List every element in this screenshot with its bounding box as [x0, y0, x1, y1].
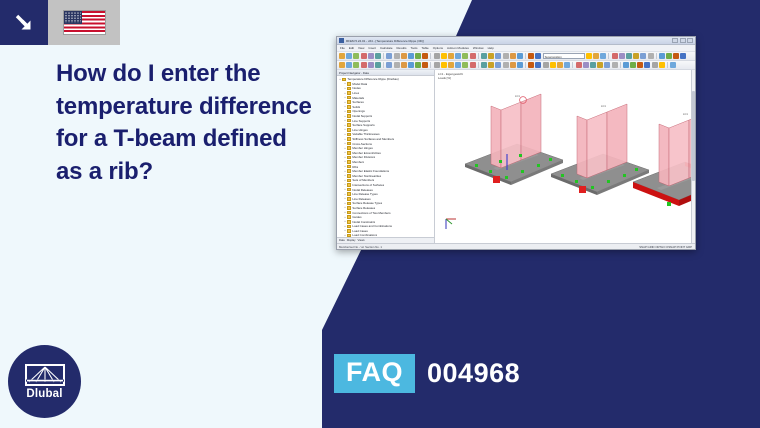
- toolbar-icon[interactable]: [495, 53, 501, 59]
- app-menubar[interactable]: FileEditViewInsertCalculateResultsToolsT…: [337, 45, 695, 52]
- toolbar-icon[interactable]: [422, 53, 428, 59]
- toolbar-icon[interactable]: [535, 62, 541, 68]
- toolbar-icon[interactable]: [346, 53, 352, 59]
- toolbar-icon[interactable]: [488, 62, 494, 68]
- statusbar-left: Member/set No. / at: Section No. 1: [339, 244, 382, 249]
- toolbar-icon[interactable]: [339, 62, 345, 68]
- toolbar-icon[interactable]: [612, 62, 618, 68]
- toolbar-icon[interactable]: [386, 53, 392, 59]
- app-workarea: Project Navigator - Data +Temperature Di…: [337, 70, 695, 243]
- toolbar-separator: [572, 62, 573, 68]
- toolbar-icon[interactable]: [434, 62, 440, 68]
- folder-icon: [347, 160, 351, 164]
- toolbar-separator: [656, 53, 657, 59]
- rib-model-3: LC1: [627, 110, 695, 214]
- navigator-tabs[interactable]: DataDisplayViews: [337, 237, 434, 243]
- menu-item-table[interactable]: Table: [422, 46, 429, 50]
- toolbar-icon[interactable]: [648, 53, 654, 59]
- toolbar-icon[interactable]: [593, 53, 599, 59]
- folder-icon: [347, 128, 351, 132]
- page-title: How do I enter the temperature differenc…: [56, 58, 318, 189]
- faq-badge: FAQ 004968: [334, 354, 520, 393]
- navigator-tab-views[interactable]: Views: [358, 239, 365, 242]
- folder-icon: [347, 174, 351, 178]
- toolbar-icon[interactable]: [495, 62, 501, 68]
- tree-item-label: Sets of Members: [352, 178, 374, 182]
- tree-item-label: Line Releases: [352, 197, 370, 201]
- tree-item-label: Load Cases: [352, 229, 367, 233]
- toolbar-icon[interactable]: [680, 53, 686, 59]
- tree-item-label: Surface Supports: [352, 123, 374, 127]
- toolbar-icon[interactable]: [346, 62, 352, 68]
- toolbar-icon[interactable]: [422, 62, 428, 68]
- folder-icon: [347, 110, 351, 114]
- faq-number: 004968: [427, 360, 520, 387]
- dlubal-logo[interactable]: Dlubal: [8, 345, 81, 418]
- toolbar-loadcase-combo[interactable]: Superposition: [543, 53, 585, 59]
- toolbar-icon[interactable]: [401, 53, 407, 59]
- app-screenshot-window: RFEM 5.24.01 - x64 - [Temperature Differ…: [336, 36, 696, 250]
- toolbar-icon[interactable]: [401, 62, 407, 68]
- toolbar-icon[interactable]: [619, 53, 625, 59]
- toolbar-icon[interactable]: [604, 62, 610, 68]
- model-viewport[interactable]: LC1 - Eigengewicht Loads [%]: [435, 70, 695, 243]
- toolbar-separator: [525, 53, 526, 59]
- toolbar-icon[interactable]: [670, 62, 676, 68]
- toolbar-icon[interactable]: [612, 53, 618, 59]
- toolbar-icon[interactable]: [623, 62, 629, 68]
- faq-chip-label: FAQ: [334, 354, 415, 393]
- app-title: RFEM 5.24.01 - x64 - [Temperature Differ…: [346, 39, 424, 43]
- toolbar-icon[interactable]: [441, 62, 447, 68]
- folder-icon: [347, 169, 351, 173]
- app-titlebar: RFEM 5.24.01 - x64 - [Temperature Differ…: [337, 37, 695, 45]
- folder-icon: [347, 202, 351, 206]
- toolbar-icon[interactable]: [528, 53, 534, 59]
- tree-item-label: Member Nonlinearities: [352, 174, 381, 178]
- app-toolbar-row-2[interactable]: [337, 61, 695, 70]
- tree-item-label: Nodes: [352, 86, 360, 90]
- language-flag-button[interactable]: [48, 0, 120, 45]
- tree-item-label: Line Supports: [352, 119, 370, 123]
- toolbar-icon[interactable]: [368, 62, 374, 68]
- toolbar-icon[interactable]: [583, 62, 589, 68]
- folder-icon: [342, 78, 346, 82]
- toolbar-icon[interactable]: [517, 53, 523, 59]
- structural-frame-icon: [25, 364, 65, 386]
- folder-icon: [347, 151, 351, 155]
- toolbar-icon[interactable]: [659, 53, 665, 59]
- tree-item-label: Surfaces: [352, 100, 363, 104]
- toolbar-icon[interactable]: [503, 62, 509, 68]
- folder-icon: [347, 87, 351, 91]
- toolbar-icon[interactable]: [448, 53, 454, 59]
- tree-item-label: Nodal Constraints: [352, 220, 375, 224]
- folder-icon: [347, 119, 351, 123]
- toolbar-icon[interactable]: [637, 62, 643, 68]
- menu-item-tools[interactable]: Tools: [411, 46, 418, 50]
- folder-icon: [347, 183, 351, 187]
- toolbar-separator: [608, 53, 609, 59]
- toolbar-icon[interactable]: [666, 53, 672, 59]
- navigator-tree[interactable]: +Temperature Difference Rippe (Dreibau)+…: [337, 76, 434, 237]
- toolbar-icon[interactable]: [455, 62, 461, 68]
- toolbar-icon[interactable]: [441, 53, 447, 59]
- toolbar-icon[interactable]: [481, 62, 487, 68]
- toolbar-icon[interactable]: [644, 62, 650, 68]
- toolbar-icon[interactable]: [488, 53, 494, 59]
- folder-icon: [347, 114, 351, 118]
- toolbar-icon[interactable]: [470, 62, 476, 68]
- menu-item-edit[interactable]: Edit: [349, 46, 354, 50]
- toolbar-icon[interactable]: [535, 53, 541, 59]
- tree-item-label: Surface Release Types: [352, 201, 382, 205]
- folder-icon: [347, 206, 351, 210]
- viewport-scrollbar[interactable]: [691, 70, 695, 243]
- toolbar-icon[interactable]: [434, 53, 440, 59]
- svg-text:LC1: LC1: [683, 112, 688, 116]
- navigator-tab-data[interactable]: Data: [339, 239, 345, 242]
- tree-item-label: Members: [352, 160, 364, 164]
- toolbar-separator: [667, 62, 668, 68]
- tree-item-label: Intersections of Surfaces: [352, 183, 384, 187]
- tree-item-label: Stiffness Surfaces and Members: [352, 137, 394, 141]
- folder-icon: [347, 220, 351, 224]
- folder-icon: [347, 229, 351, 233]
- toolbar-icon[interactable]: [557, 62, 563, 68]
- tree-item-label: Connections of Two Members: [352, 211, 390, 215]
- menu-item-insert[interactable]: Insert: [368, 46, 376, 50]
- arrow-down-right-icon[interactable]: [0, 0, 48, 45]
- tree-item-label: Materials: [352, 96, 364, 100]
- folder-icon: [347, 179, 351, 183]
- statusbar-right: SNAP GRID ORTHO OSNAP POINT GRP: [639, 244, 695, 249]
- toolbar-icon[interactable]: [652, 62, 658, 68]
- tree-item-label: Member Hinges: [352, 146, 372, 150]
- toolbar-icon[interactable]: [353, 53, 359, 59]
- folder-icon: [347, 100, 351, 104]
- folder-icon: [347, 211, 351, 215]
- toolbar-icon[interactable]: [510, 62, 516, 68]
- toolbar-icon[interactable]: [455, 53, 461, 59]
- folder-icon: [347, 197, 351, 201]
- toolbar-icon[interactable]: [528, 62, 534, 68]
- tree-item-label: Load Cases and Combinations: [352, 224, 392, 228]
- toolbar-icon[interactable]: [415, 62, 421, 68]
- toolbar-icon[interactable]: [394, 62, 400, 68]
- viewport-loadcase-label: LC1 - Eigengewicht Loads [%]: [438, 72, 463, 81]
- toolbar-icon[interactable]: [361, 53, 367, 59]
- toolbar-icon[interactable]: [415, 53, 421, 59]
- toolbar-separator: [430, 53, 431, 59]
- tree-item-label: Member Elastic Foundations: [352, 169, 389, 173]
- toolbar-icon[interactable]: [448, 62, 454, 68]
- tree-item-label: Variable Thicknesses: [352, 132, 379, 136]
- minimize-button[interactable]: [672, 38, 678, 43]
- toolbar-icon[interactable]: [590, 62, 596, 68]
- toolbar-icon[interactable]: [386, 62, 392, 68]
- window-controls[interactable]: [672, 38, 693, 43]
- toolbar-icon[interactable]: [550, 62, 556, 68]
- toolbar-icon[interactable]: [564, 62, 570, 68]
- toolbar-icon[interactable]: [597, 62, 603, 68]
- toolbar-icon[interactable]: [408, 62, 414, 68]
- menu-item-window[interactable]: Window: [473, 46, 484, 50]
- folder-icon: [347, 91, 351, 95]
- folder-icon: [347, 137, 351, 141]
- toolbar-icon[interactable]: [481, 53, 487, 59]
- folder-icon: [347, 123, 351, 127]
- toolbar-icon[interactable]: [470, 53, 476, 59]
- tree-item-label: Member Divisions: [352, 155, 375, 159]
- tree-item-label: Nodal Supports: [352, 114, 372, 118]
- navigator-tab-display[interactable]: Display: [347, 239, 356, 242]
- tree-item-label: Guides: [352, 215, 361, 219]
- tree-item-label: Nodal Releases: [352, 188, 372, 192]
- folder-icon: [347, 225, 351, 229]
- toolbar-icon[interactable]: [586, 53, 592, 59]
- toolbar-separator: [383, 53, 384, 59]
- close-button[interactable]: [687, 38, 693, 43]
- tree-item-label: Cross-Sections: [352, 142, 372, 146]
- toolbar-icon[interactable]: [633, 53, 639, 59]
- folder-icon: [347, 215, 351, 219]
- menu-item-file[interactable]: File: [340, 46, 345, 50]
- toolbar-separator: [525, 62, 526, 68]
- toolbar-separator: [430, 62, 431, 68]
- toolbar-separator: [383, 62, 384, 68]
- app-toolbar-row-1[interactable]: Superposition: [337, 52, 695, 61]
- tree-item-label: Openings: [352, 109, 364, 113]
- folder-icon: [347, 82, 351, 86]
- top-left-badges: [0, 0, 120, 45]
- toolbar-icon[interactable]: [543, 62, 549, 68]
- toolbar-icon[interactable]: [462, 53, 468, 59]
- toolbar-separator: [478, 62, 479, 68]
- toolbar-icon[interactable]: [673, 53, 679, 59]
- flag-canton: [64, 11, 82, 24]
- toolbar-icon[interactable]: [361, 62, 367, 68]
- tree-item-label: Surface Releases: [352, 206, 375, 210]
- logo-wordmark: Dlubal: [26, 388, 62, 400]
- toolbar-icon[interactable]: [462, 62, 468, 68]
- toolbar-icon[interactable]: [375, 53, 381, 59]
- folder-icon: [347, 142, 351, 146]
- tree-item-label: Line Hinges: [352, 128, 367, 132]
- scrollbar-thumb[interactable]: [692, 91, 695, 181]
- tree-item-label: Lines: [352, 91, 359, 95]
- toolbar-icon[interactable]: [368, 53, 374, 59]
- toolbar-icon[interactable]: [408, 53, 414, 59]
- app-icon: [339, 38, 344, 43]
- folder-icon: [347, 165, 351, 169]
- toolbar-separator: [478, 53, 479, 59]
- folder-icon: [347, 192, 351, 196]
- toolbar-icon[interactable]: [659, 62, 665, 68]
- svg-text:LC1: LC1: [601, 104, 606, 108]
- folder-icon: [347, 105, 351, 109]
- menu-item-add-on-modules[interactable]: Add-on Modules: [447, 46, 469, 50]
- app-statusbar: Member/set No. / at: Section No. 1 SNAP …: [337, 243, 695, 249]
- menu-item-options[interactable]: Options: [433, 46, 443, 50]
- coordinate-axes-icon: [443, 216, 459, 233]
- folder-icon: [347, 96, 351, 100]
- folder-icon: [347, 133, 351, 137]
- tree-item-label: Solids: [352, 105, 360, 109]
- folder-icon: [347, 156, 351, 160]
- svg-text:LC1: LC1: [515, 94, 520, 98]
- maximize-button[interactable]: [680, 38, 686, 43]
- folder-icon: [347, 146, 351, 150]
- menu-item-calculate[interactable]: Calculate: [380, 46, 393, 50]
- tree-item-label: Ribs: [352, 165, 358, 169]
- tree-item-label: Model Data: [352, 82, 367, 86]
- toolbar-icon[interactable]: [353, 62, 359, 68]
- toolbar-icon[interactable]: [630, 62, 636, 68]
- us-flag-icon: [63, 10, 106, 35]
- toolbar-icon[interactable]: [517, 62, 523, 68]
- project-navigator-panel: Project Navigator - Data +Temperature Di…: [337, 70, 435, 243]
- toolbar-icon[interactable]: [375, 62, 381, 68]
- menu-item-help[interactable]: Help: [488, 46, 494, 50]
- menu-item-view[interactable]: View: [358, 46, 364, 50]
- toolbar-icon[interactable]: [503, 53, 509, 59]
- toolbar-icon[interactable]: [600, 53, 606, 59]
- tree-item-label: Temperature Difference Rippe (Dreibau): [347, 77, 398, 81]
- toolbar-icon[interactable]: [640, 53, 646, 59]
- toolbar-icon[interactable]: [576, 62, 582, 68]
- faq-slide: How do I enter the temperature differenc…: [0, 0, 760, 428]
- toolbar-icon[interactable]: [626, 53, 632, 59]
- toolbar-icon[interactable]: [510, 53, 516, 59]
- tree-item-label: Line Release Types: [352, 192, 377, 196]
- menu-item-results[interactable]: Results: [397, 46, 407, 50]
- toolbar-icon[interactable]: [339, 53, 345, 59]
- tree-item-label: Member Eccentricities: [352, 151, 380, 155]
- toolbar-separator: [620, 62, 621, 68]
- folder-icon: [347, 188, 351, 192]
- toolbar-icon[interactable]: [394, 53, 400, 59]
